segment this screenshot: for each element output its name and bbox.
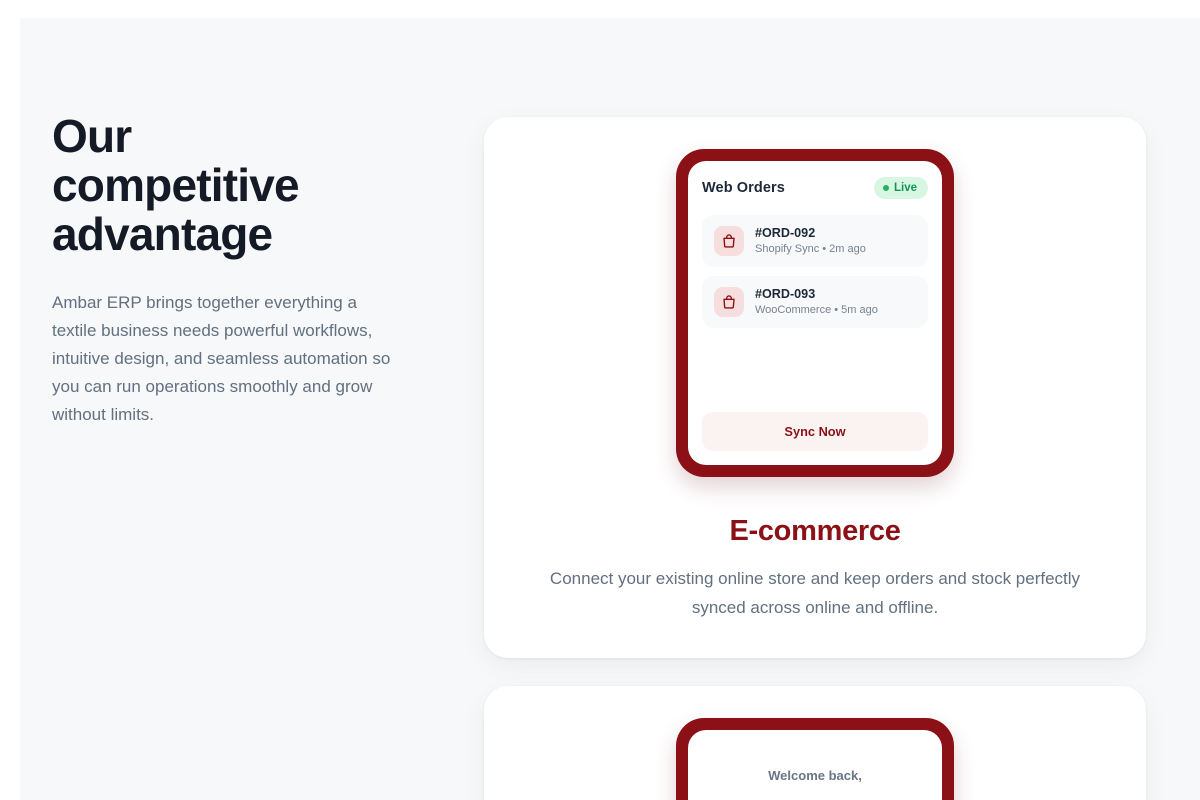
- status-badge-label: Live: [894, 182, 917, 194]
- feature-card-title: E-commerce: [484, 515, 1146, 548]
- page-title: Our competitive advantage: [52, 112, 382, 259]
- order-id: #ORD-093: [755, 286, 878, 302]
- screen-header: Web Orders Live: [702, 177, 928, 199]
- status-dot-icon: [883, 185, 889, 191]
- status-badge: Live: [874, 177, 928, 199]
- list-item[interactable]: #ORD-092 Shopify Sync • 2m ago: [702, 215, 928, 267]
- list-item-text: #ORD-092 Shopify Sync • 2m ago: [755, 225, 866, 257]
- screen-spacer: [702, 337, 928, 412]
- order-meta: WooCommerce • 5m ago: [755, 303, 878, 318]
- device-mockup-frame: Web Orders Live: [676, 149, 954, 477]
- page-content-area: Our competitive advantage Ambar ERP brin…: [20, 18, 1200, 800]
- welcome-greeting: Welcome back,: [702, 746, 928, 783]
- shopping-bag-icon: [714, 287, 744, 317]
- hero-description: Ambar ERP brings together everything a t…: [52, 289, 392, 429]
- feature-card-ecommerce: Web Orders Live: [484, 117, 1146, 658]
- feature-card-description: Connect your existing online store and k…: [525, 564, 1105, 622]
- screen-spacer: [702, 783, 928, 800]
- order-meta: Shopify Sync • 2m ago: [755, 242, 866, 257]
- order-id: #ORD-092: [755, 225, 866, 241]
- hero-text-column: Our competitive advantage Ambar ERP brin…: [52, 112, 452, 429]
- list-item-text: #ORD-093 WooCommerce • 5m ago: [755, 286, 878, 318]
- device-screen: Web Orders Live: [688, 161, 942, 465]
- device-screen: Welcome back,: [688, 730, 942, 800]
- screen-title: Web Orders: [702, 180, 785, 196]
- list-item[interactable]: #ORD-093 WooCommerce • 5m ago: [702, 276, 928, 328]
- feature-card-list: Web Orders Live: [484, 117, 1146, 800]
- shopping-bag-icon: [714, 226, 744, 256]
- feature-card-welcome: Welcome back,: [484, 686, 1146, 800]
- device-mockup-frame: Welcome back,: [676, 718, 954, 800]
- sync-now-button[interactable]: Sync Now: [702, 412, 928, 451]
